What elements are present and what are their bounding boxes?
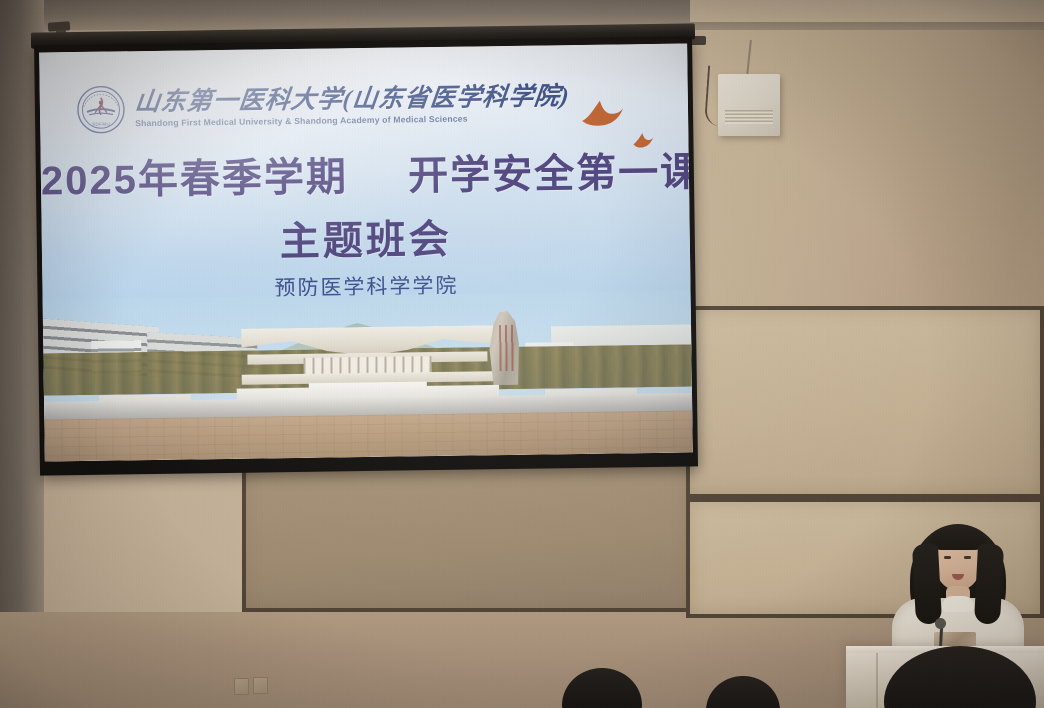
- monument-calligraphy: [499, 325, 516, 371]
- screen-surface: SDFMU 山东第一医科大学(山东省医学科学院) Shandong First …: [39, 43, 693, 461]
- presenter-collar: [942, 596, 974, 612]
- presenter-eye-right: [964, 556, 971, 559]
- headline-line1-part2: 开学安全第一课: [408, 150, 693, 198]
- wall-panel-right-top: [686, 306, 1044, 498]
- presenter-hair-right: [974, 543, 1004, 624]
- institution-name-cn: 山东第一医科大学(山东省医学科学院): [134, 84, 571, 115]
- shandong-first-medical-university-seal-icon: SDFMU: [76, 84, 127, 135]
- presentation-slide: SDFMU 山东第一医科大学(山东省医学科学院) Shandong First …: [39, 43, 693, 461]
- svg-text:SDFMU: SDFMU: [92, 122, 110, 127]
- flying-bird-icon-large: [580, 98, 624, 129]
- podium-seam: [876, 653, 878, 708]
- headline-line2: 主题班会: [41, 203, 690, 270]
- campus-plaza-pavement: [44, 410, 693, 461]
- screen-frame: SDFMU 山东第一医科大学(山东省医学科学院) Shandong First …: [34, 36, 698, 475]
- speaker-grille-icon: [725, 110, 773, 124]
- headline-line1-part1: 2025年春季学期: [41, 155, 349, 203]
- institution-name-en: Shandong First Medical University & Shan…: [135, 113, 570, 128]
- presenter-hair-left: [912, 543, 942, 624]
- presenter-eye-left: [944, 556, 951, 559]
- slide-headline: 2025年春季学期 开学安全第一课 主题班会: [40, 139, 690, 270]
- institution-names: 山东第一医科大学(山东省医学科学院) Shandong First Medica…: [135, 84, 570, 128]
- wall-socket-right: [253, 677, 268, 694]
- podium-microphone-icon: [935, 618, 946, 629]
- projection-screen: SDFMU 山东第一医科大学(山东省医学科学院) Shandong First …: [31, 23, 701, 484]
- lecture-hall-photo: SDFMU 山东第一医科大学(山东省医学科学院) Shandong First …: [0, 0, 1044, 708]
- wall-mounted-speaker: [718, 74, 780, 136]
- central-campus-building: [241, 325, 494, 385]
- institution-lockup: SDFMU 山东第一医科大学(山东省医学科学院) Shandong First …: [76, 78, 570, 135]
- wall-socket-left: [234, 678, 249, 695]
- ceiling-strip-right: [690, 0, 1044, 22]
- campus-photo-band: [43, 290, 693, 461]
